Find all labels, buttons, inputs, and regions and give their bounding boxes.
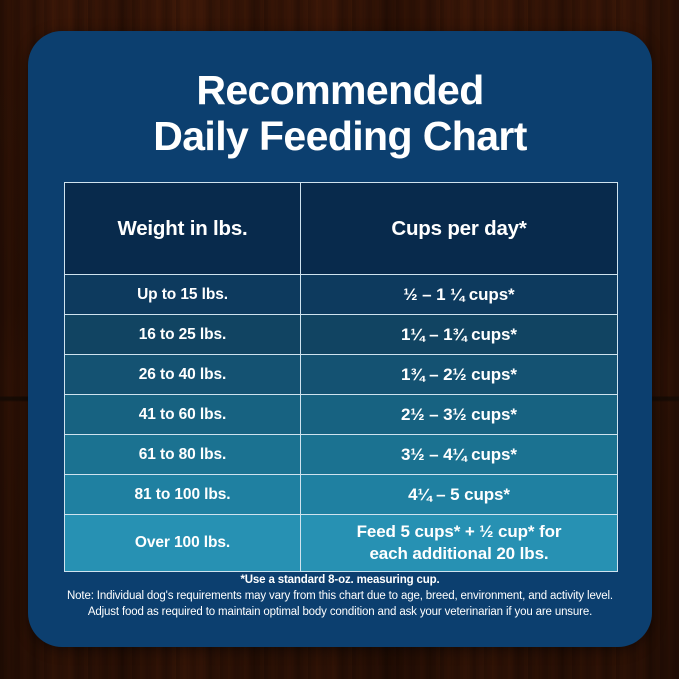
cell-cups: 4¼ – 5 cups*	[301, 475, 617, 515]
table-row: 61 to 80 lbs. 3½ – 4¼ cups*	[65, 435, 617, 475]
table-row: Up to 15 lbs. ½ – 1 ¼ cups*	[65, 275, 617, 315]
cell-weight: Over 100 lbs.	[65, 515, 301, 571]
cell-weight: 41 to 60 lbs.	[65, 395, 301, 435]
feeding-table: Weight in lbs. Cups per day* Up to 15 lb…	[64, 182, 618, 572]
page-title-line-1: Recommended	[28, 68, 652, 114]
table-row: 41 to 60 lbs. 2½ – 3½ cups*	[65, 395, 617, 435]
cell-cups: ½ – 1 ¼ cups*	[301, 275, 617, 315]
footnotes: *Use a standard 8-oz. measuring cup. Not…	[46, 574, 634, 621]
cell-cups: 1¼ – 1¾ cups*	[301, 315, 617, 355]
table-row: Over 100 lbs. Feed 5 cups* + ½ cup* for …	[65, 515, 617, 571]
table-body: Up to 15 lbs. ½ – 1 ¼ cups* 16 to 25 lbs…	[65, 275, 617, 571]
footnote-note-line-1: Note: Individual dog's requirements may …	[46, 588, 634, 604]
cell-cups: 1¾ – 2½ cups*	[301, 355, 617, 395]
column-header-weight: Weight in lbs.	[65, 183, 301, 275]
table-row: 81 to 100 lbs. 4¼ – 5 cups*	[65, 475, 617, 515]
table-header: Weight in lbs. Cups per day*	[65, 183, 617, 275]
footnote-measuring-cup: *Use a standard 8-oz. measuring cup.	[46, 574, 634, 586]
cell-cups-line-2: each additional 20 lbs.	[369, 544, 548, 563]
table-row: 16 to 25 lbs. 1¼ – 1¾ cups*	[65, 315, 617, 355]
cell-weight: 61 to 80 lbs.	[65, 435, 301, 475]
cell-cups: 2½ – 3½ cups*	[301, 395, 617, 435]
cell-weight: 81 to 100 lbs.	[65, 475, 301, 515]
cell-cups-line-1: Feed 5 cups* + ½ cup* for	[357, 522, 562, 541]
table-header-row: Weight in lbs. Cups per day*	[65, 183, 617, 275]
cell-weight: 26 to 40 lbs.	[65, 355, 301, 395]
table-row: 26 to 40 lbs. 1¾ – 2½ cups*	[65, 355, 617, 395]
page-title: Recommended Daily Feeding Chart	[28, 31, 652, 160]
cell-weight: Up to 15 lbs.	[65, 275, 301, 315]
cell-weight: 16 to 25 lbs.	[65, 315, 301, 355]
cell-cups: Feed 5 cups* + ½ cup* for each additiona…	[301, 515, 617, 571]
column-header-cups: Cups per day*	[301, 183, 617, 275]
page-title-line-2: Daily Feeding Chart	[28, 114, 652, 160]
footnote-note-line-2: Adjust food as required to maintain opti…	[46, 604, 634, 620]
feeding-chart-card: Recommended Daily Feeding Chart Weight i…	[28, 31, 652, 647]
cell-cups: 3½ – 4¼ cups*	[301, 435, 617, 475]
